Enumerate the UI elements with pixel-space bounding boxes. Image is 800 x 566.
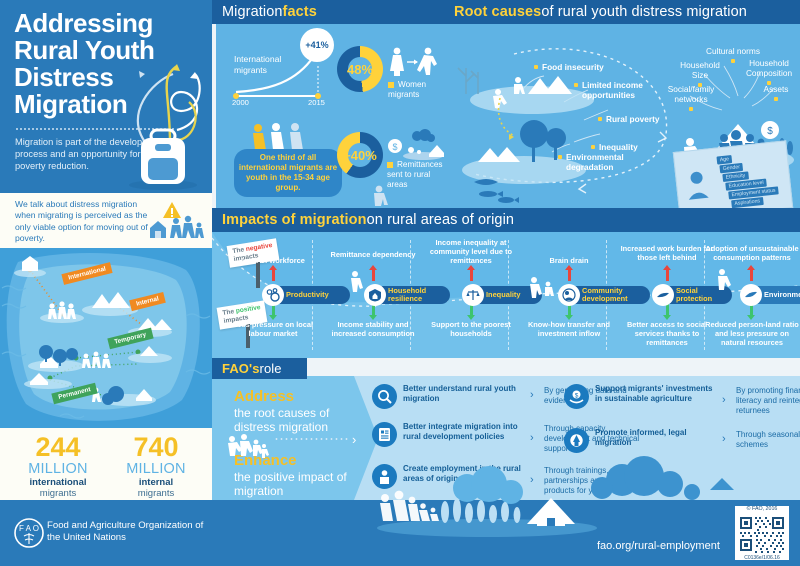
legend-text: Remittances sent to rural areas [387, 160, 443, 189]
scales-icon [462, 284, 484, 306]
stat-line1: international [10, 477, 106, 488]
chevron-right-icon: › [530, 432, 534, 444]
youth-share-bubble: One third of all international migrants … [234, 149, 342, 197]
fao-org-name: Food and Agriculture Organization of the… [47, 520, 212, 543]
migrant-stats: 244 MILLION international migrants 740 M… [0, 428, 212, 500]
axis-year-start: 2000 [232, 98, 249, 107]
cause-food-insecurity: Food insecurity [542, 62, 604, 72]
fao-action-result: By promoting financial literacy and rein… [736, 386, 800, 415]
women-migrant-icons [388, 46, 440, 76]
cause-rural-poverty: Rural poverty [606, 114, 659, 124]
impact-positive-text: Know-how transfer and investment inflow [520, 320, 618, 338]
cause-limited-income: Limited income opportunities [582, 80, 674, 100]
root-header-bold: Root causes [454, 4, 541, 20]
cause-environmental-degradation: Environmental degradation [566, 152, 636, 172]
avatar [681, 165, 712, 202]
infographic-page: Addressing Rural Youth Distress Migratio… [0, 0, 800, 566]
family-migration-icon [226, 434, 268, 456]
remittance-rural-icons: $ [387, 128, 443, 162]
stat-number: 244 [10, 434, 106, 461]
social-protection-icon [652, 284, 674, 306]
positive-arrow-icon [666, 304, 669, 315]
fao-header-plain: role [260, 361, 282, 376]
document-icon [372, 422, 397, 447]
map-illustration [0, 248, 212, 428]
fao-logo-block: F A O Food and Agriculture Organization … [0, 500, 212, 566]
footer-village-illustration [367, 476, 607, 538]
stat-number: 740 [108, 434, 204, 461]
chevron-right-icon: › [530, 389, 534, 401]
negative-arrow-icon [372, 270, 375, 281]
impact-pill-label: Environment [764, 291, 800, 299]
impact-negative-text: Loss of workforce [224, 256, 322, 265]
migration-facts-body: International migrants 2000 2015 +41% 48… [216, 24, 444, 208]
fao-action-title: Support migrants' investments in sustain… [595, 384, 715, 403]
productivity-icon [262, 284, 284, 306]
fao-action-result: Through seasonal labour schemes [736, 430, 800, 450]
backpack-arrows-illustration [115, 52, 210, 192]
hero-panel: Addressing Rural Youth Distress Migratio… [0, 0, 212, 193]
impact-negative-text: Adoption of unsustainable consumption pa… [704, 244, 800, 262]
root-causes-body: Food insecurity Limited income opportuni… [444, 24, 800, 208]
hiker-icon [712, 268, 732, 290]
rural-landscape-illustration [582, 456, 782, 502]
svg-text:$: $ [392, 142, 397, 152]
fao-address-word: Address [234, 388, 294, 405]
svg-text:F A O: F A O [19, 524, 39, 533]
impact-pill-label: Inequality [486, 291, 521, 299]
document-code: C0136e/1/06.16 [735, 555, 789, 561]
impact-positive-text: Better access to social services thanks … [618, 320, 716, 347]
donut-value: ~40% [337, 132, 383, 178]
distress-definition-text: We talk about distress migration when mi… [15, 199, 155, 245]
fao-address-desc: the root causes of distress migration [234, 406, 350, 434]
impacts-body: The negative impacts The positive impact… [212, 232, 800, 358]
chevron-right-icon: › [722, 433, 726, 445]
determinant-household-composition: Household Composition [741, 58, 797, 78]
impact-pill-label: Productivity [286, 291, 329, 299]
stat-unit: MILLION [10, 461, 106, 477]
impact-pill-environment[interactable]: Environment [742, 286, 800, 304]
chevron-right-icon: › [722, 394, 726, 406]
impacts-header: Impacts of migration on rural areas of o… [212, 208, 800, 232]
walking-person-icon [346, 270, 364, 292]
legend-swatch [387, 162, 393, 168]
impacts-header-plain: on rural areas of origin [367, 212, 514, 228]
community-development-icon [558, 284, 580, 306]
profile-field-age: Age [716, 155, 732, 165]
impact-positive-text: Reduced person-land ratio and less press… [704, 320, 800, 347]
household-resilience-icon [364, 284, 386, 306]
svg-text:$: $ [575, 393, 579, 400]
impact-positive-text: Support to the poorest households [422, 320, 520, 338]
fao-logo-icon: F A O [14, 518, 44, 548]
impact-positive-text: Less pressure on local labour market [224, 320, 322, 338]
stat-line2: migrants [108, 488, 204, 499]
qr-code[interactable] [735, 506, 789, 560]
donut-legend-women: Women migrants [388, 80, 448, 100]
fao-connector-dots [274, 438, 348, 440]
negative-arrow-icon [568, 270, 571, 281]
environment-icon [740, 284, 762, 306]
copyright-text: © FAO, 2016 [735, 506, 789, 512]
fao-enhance-desc: the positive impact of migration [234, 470, 350, 498]
fao-role-header: FAO's role [212, 358, 307, 379]
fao-header-bold: FAO's [222, 361, 260, 376]
impacts-header-bold: Impacts of migration [222, 212, 367, 228]
impact-positive-text: Income stability and increased consumpti… [324, 320, 422, 338]
legend-swatch [388, 82, 394, 88]
determinant-social-networks: Social/family networks [662, 84, 720, 104]
facts-header-plain: Migration [222, 4, 283, 20]
youth-share-icons [248, 122, 320, 150]
trend-badge: +41% [300, 28, 334, 62]
money-hand-icon: $ [564, 384, 589, 409]
fao-action-title: Promote informed, legal migration [595, 428, 715, 447]
fao-connector-chevron-icon: › [352, 432, 356, 447]
impact-negative-text: Remittance dependency [324, 250, 422, 259]
fao-action-title: Better integrate migration into rural de… [403, 422, 523, 441]
impact-negative-text: Increased work burden for those left beh… [618, 244, 716, 262]
donut-legend-remittances: Remittances sent to rural areas [387, 160, 443, 190]
stat-line2: migrants [10, 488, 106, 499]
migration-types-map: International Internal Temporary Permane… [0, 248, 212, 428]
distress-definition-note: We talk about distress migration when mi… [0, 193, 212, 248]
axis-year-end: 2015 [308, 98, 325, 107]
stat-unit: MILLION [108, 461, 204, 477]
negative-arrow-icon [666, 270, 669, 281]
stat-line1: internal [108, 477, 204, 488]
facts-header-bold: facts [283, 4, 317, 20]
fao-action-title: Better understand rural youth migration [403, 384, 523, 403]
family-warning-illustration [148, 198, 208, 243]
passport-stamp-icon [564, 428, 589, 453]
root-header-plain: of rural youth distress migration [541, 4, 747, 20]
negative-arrow-icon [750, 270, 753, 281]
determinant-household-size: Household Size [672, 60, 728, 80]
farmer-icon [368, 184, 392, 206]
stat-internal: 740 MILLION internal migrants [108, 434, 204, 499]
root-causes-header: Root causes of rural youth distress migr… [444, 0, 800, 24]
migration-facts-header: Migration facts [212, 0, 454, 24]
impact-negative-text: Income inequality at community level due… [422, 238, 520, 265]
negative-arrow-icon [272, 270, 275, 281]
magnifier-icon [372, 384, 397, 409]
determinant-assets: Assets [756, 84, 796, 94]
footer-url[interactable]: fao.org/rural-employment [597, 540, 720, 552]
stat-international: 244 MILLION international migrants [10, 434, 106, 499]
impact-negative-text: Brain drain [520, 256, 618, 265]
cause-inequality: Inequality [599, 142, 638, 152]
donut-value: 48% [337, 46, 383, 92]
donut-remittances: ~40% [337, 132, 383, 178]
people-group-icon [526, 276, 556, 298]
donut-women-migrants: 48% [337, 46, 383, 92]
negative-arrow-icon [470, 270, 473, 281]
page-footer: fao.org/rural-employment [212, 500, 800, 566]
svg-text:$: $ [767, 126, 773, 137]
determinant-cultural-norms: Cultural norms [699, 46, 767, 56]
